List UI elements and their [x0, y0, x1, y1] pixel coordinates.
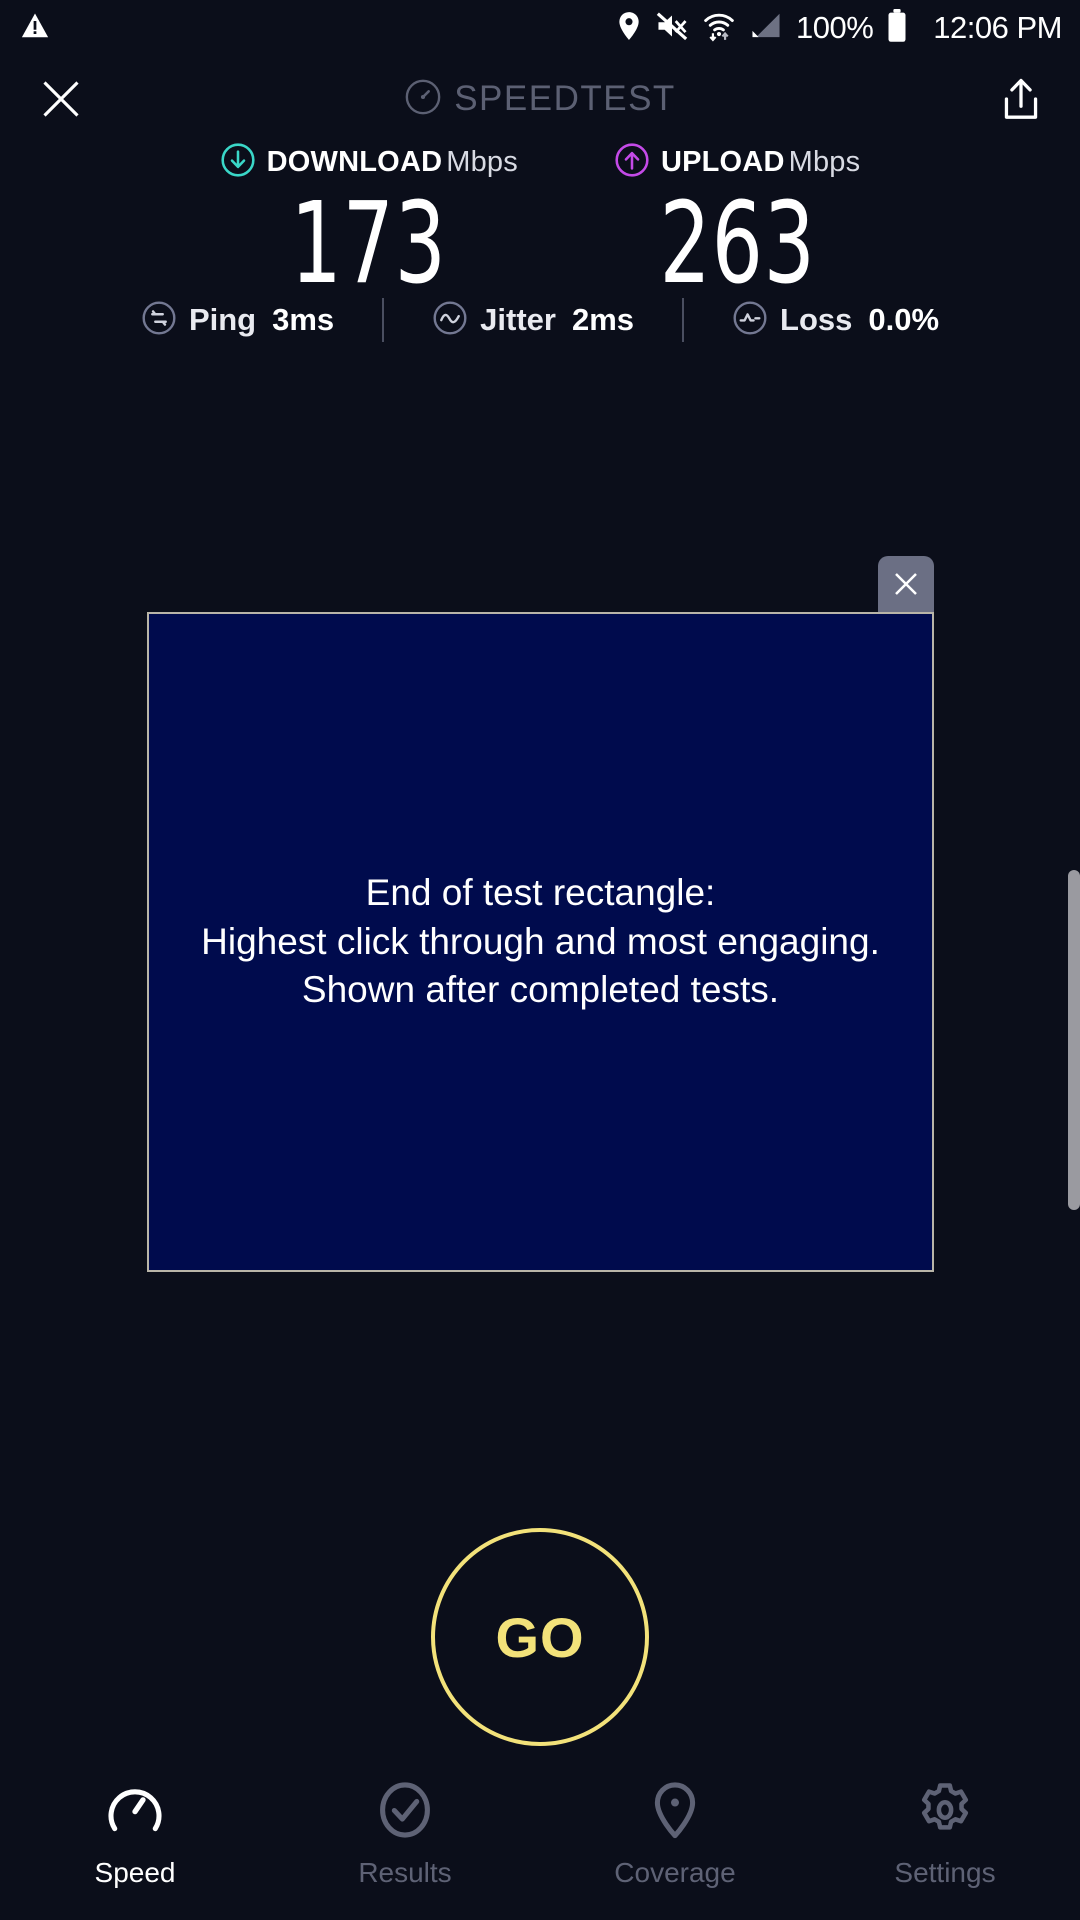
- divider: [382, 298, 384, 342]
- divider: [682, 298, 684, 342]
- ping-icon: [141, 300, 177, 341]
- ad-line-1: End of test rectangle:: [201, 869, 880, 918]
- ping-label: Ping: [189, 302, 256, 338]
- ad-text: End of test rectangle: Highest click thr…: [189, 869, 892, 1015]
- cellular-signal-icon: [750, 11, 782, 46]
- upload-label: UPLOADMbps: [661, 146, 860, 179]
- ad-line-2: Highest click through and most engaging.: [201, 918, 880, 967]
- upload-unit: Mbps: [789, 146, 861, 178]
- download-unit: Mbps: [446, 146, 518, 178]
- wifi-icon: [702, 10, 736, 47]
- volume-mute-icon: [656, 11, 688, 46]
- warning-triangle-icon: [20, 11, 50, 46]
- jitter-label: Jitter: [480, 302, 556, 338]
- upload-value: 263: [659, 188, 815, 300]
- results-summary: DOWNLOADMbps 173 UPLOADMbps 263: [0, 142, 1080, 300]
- ping-value: 3ms: [272, 302, 334, 338]
- battery-percent-label: 100%: [796, 10, 873, 46]
- battery-full-icon: [887, 9, 907, 48]
- download-value: 173: [291, 188, 447, 300]
- loss-metric: Loss 0.0%: [728, 300, 943, 341]
- ping-jitter-loss-row: Ping 3ms Jitter 2ms Los: [0, 298, 1080, 342]
- speedometer-icon: [404, 78, 442, 121]
- nav-label-settings: Settings: [894, 1857, 995, 1889]
- status-bar-left: [20, 11, 50, 46]
- download-metric: DOWNLOADMbps 173: [220, 142, 518, 300]
- speedtest-app-screen: 100% 12:06 PM: [0, 0, 1080, 1920]
- brand-label: SPEEDTEST: [454, 79, 676, 119]
- brand-title: SPEEDTEST: [0, 78, 1080, 121]
- upload-metric: UPLOADMbps 263: [614, 142, 860, 300]
- upload-arrow-icon: [614, 142, 650, 183]
- bottom-navigation: Speed Results Coverage: [0, 1770, 1080, 1920]
- share-button[interactable]: [992, 70, 1050, 128]
- close-icon: [39, 77, 83, 121]
- status-bar-right: 100% 12:06 PM: [616, 9, 1062, 48]
- download-upload-row: DOWNLOADMbps 173 UPLOADMbps 263: [0, 142, 1080, 300]
- app-header: SPEEDTEST: [0, 56, 1080, 142]
- jitter-metric: Jitter 2ms: [428, 300, 638, 341]
- jitter-value: 2ms: [572, 302, 634, 338]
- go-button-label: GO: [495, 1605, 584, 1670]
- status-bar-clock: 12:06 PM: [933, 10, 1062, 46]
- go-button[interactable]: GO: [431, 1528, 649, 1746]
- ping-metric: Ping 3ms: [137, 300, 338, 341]
- nav-item-speed[interactable]: Speed: [0, 1770, 270, 1920]
- download-metric-header: DOWNLOADMbps: [220, 142, 518, 182]
- speedometer-icon: [103, 1778, 167, 1847]
- download-label: DOWNLOADMbps: [267, 146, 518, 179]
- nav-label-results: Results: [358, 1857, 451, 1889]
- download-arrow-icon: [220, 142, 256, 183]
- nav-label-coverage: Coverage: [614, 1857, 735, 1889]
- nav-label-speed: Speed: [95, 1857, 176, 1889]
- status-bar: 100% 12:06 PM: [0, 0, 1080, 56]
- scrollbar-thumb[interactable]: [1068, 870, 1080, 1210]
- jitter-icon: [432, 300, 468, 341]
- nav-item-settings[interactable]: Settings: [810, 1770, 1080, 1920]
- close-ad-button[interactable]: [878, 556, 934, 612]
- gear-icon: [913, 1778, 977, 1847]
- loss-label: Loss: [780, 302, 852, 338]
- share-icon: [1001, 77, 1041, 121]
- close-icon: [891, 569, 921, 599]
- loss-icon: [732, 300, 768, 341]
- close-app-button[interactable]: [30, 68, 92, 130]
- loss-value: 0.0%: [868, 302, 939, 338]
- ad-line-3: Shown after completed tests.: [201, 966, 880, 1015]
- upload-metric-header: UPLOADMbps: [614, 142, 860, 182]
- location-pin-icon: [643, 1778, 707, 1847]
- check-circle-icon: [373, 1778, 437, 1847]
- nav-item-coverage[interactable]: Coverage: [540, 1770, 810, 1920]
- ad-banner[interactable]: End of test rectangle: Highest click thr…: [147, 612, 934, 1272]
- location-pin-icon: [616, 11, 642, 46]
- nav-item-results[interactable]: Results: [270, 1770, 540, 1920]
